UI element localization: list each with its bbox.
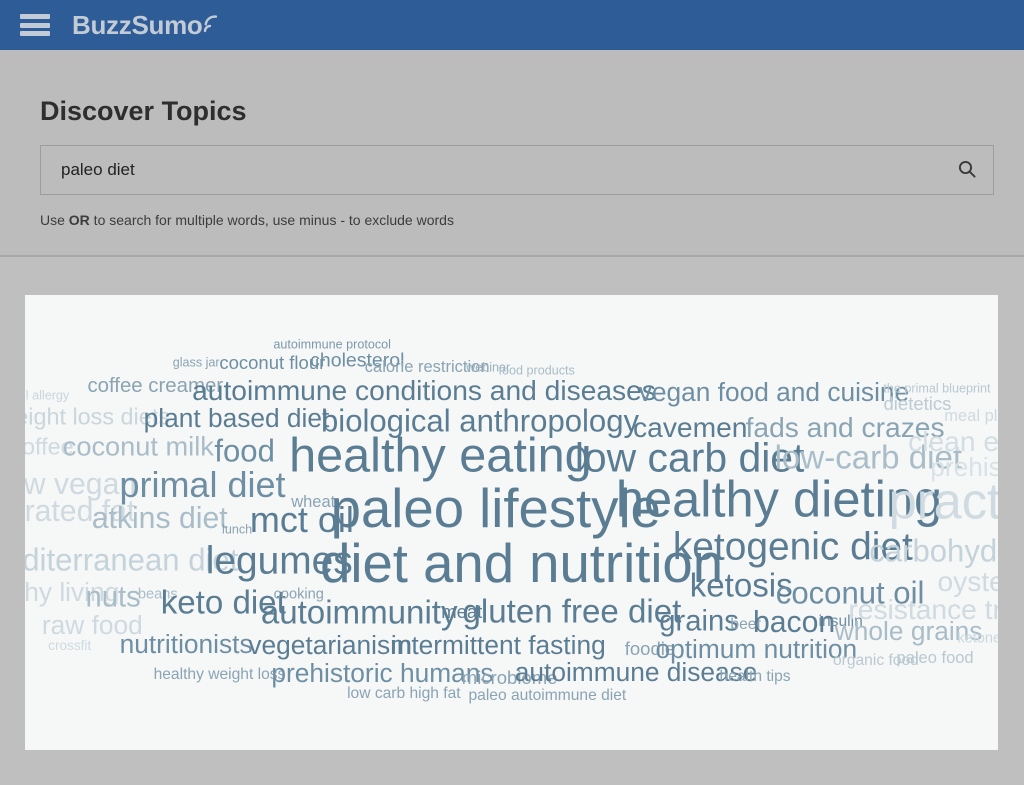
cloud-word[interactable]: low carb high fat (347, 686, 461, 702)
cloud-word[interactable]: crossfit (48, 639, 91, 653)
cloud-word[interactable]: atkins diet (92, 503, 228, 533)
hamburger-bar-3 (20, 31, 50, 36)
cloud-word[interactable]: health tips (720, 669, 791, 685)
cloud-word[interactable]: vegan food and cuisine (639, 379, 909, 405)
cloud-word[interactable]: grains (659, 607, 739, 636)
hamburger-bar-1 (20, 14, 50, 19)
cloud-word[interactable]: food (214, 436, 275, 467)
cloud-word[interactable]: primal diet (119, 467, 285, 503)
signal-wave-icon (203, 14, 219, 34)
cloud-word[interactable]: prehistoric humans (271, 660, 493, 686)
cloud-word[interactable]: paleo food (897, 650, 974, 667)
brand-name: BuzzSumo (72, 10, 202, 41)
cloud-word[interactable]: vegetarianism (248, 632, 412, 658)
cloud-word[interactable]: meal plans (944, 408, 998, 425)
cloud-word[interactable]: paleo autoimmune diet (468, 688, 626, 704)
search-button[interactable] (941, 146, 993, 194)
cloud-word[interactable]: carbohydrates (869, 536, 998, 567)
hamburger-menu-icon[interactable] (20, 14, 50, 36)
search-input[interactable] (41, 146, 941, 194)
cloud-word[interactable]: plant based diet (144, 405, 330, 431)
hint-keyword: OR (69, 212, 90, 228)
cloud-word[interactable]: healthy eating (289, 432, 592, 481)
hamburger-bar-2 (20, 23, 50, 28)
cloud-word[interactable]: paleo lifestyle (331, 482, 661, 537)
hint-prefix: Use (40, 212, 69, 228)
search-icon (957, 159, 977, 182)
search-field-container (40, 145, 994, 195)
cloud-word[interactable]: oysters (937, 567, 998, 595)
cloud-word[interactable]: gluten free diet (462, 596, 681, 629)
cloud-word[interactable]: ketones (957, 632, 998, 647)
cloud-word[interactable]: oil allergy (25, 389, 69, 402)
cloud-word[interactable]: resistance training (848, 595, 998, 623)
cloud-word[interactable]: nuts (86, 583, 141, 612)
cloud-word[interactable]: lunch (222, 523, 252, 536)
search-hint-text: Use OR to search for multiple words, use… (40, 212, 454, 228)
cloud-word[interactable]: diet and nutrition (320, 537, 723, 592)
cloud-word[interactable]: glass jar (173, 357, 220, 370)
discover-topics-panel: Discover Topics Use OR to search for mul… (0, 50, 1024, 257)
cloud-word[interactable]: healthy weight loss (154, 667, 286, 683)
cloud-word[interactable]: autoimmune conditions and diseases (192, 376, 656, 404)
cloud-word[interactable]: nutritionists (120, 631, 253, 657)
cloud-word[interactable]: coconut milk (63, 432, 214, 459)
word-cloud: autoimmune protocolglass jarcoconut flou… (25, 295, 998, 750)
cloud-word[interactable]: autoimmunity (261, 597, 458, 630)
top-navigation-bar: BuzzSumo (0, 0, 1024, 50)
page-title: Discover Topics (40, 96, 247, 127)
buzzsumo-logo[interactable]: BuzzSumo (72, 10, 219, 41)
hint-suffix: to search for multiple words, use minus … (90, 212, 454, 228)
word-cloud-card: autoimmune protocolglass jarcoconut flou… (25, 295, 998, 750)
cloud-word[interactable]: intermittent fasting (391, 632, 606, 658)
cloud-word[interactable]: practice (889, 477, 998, 528)
